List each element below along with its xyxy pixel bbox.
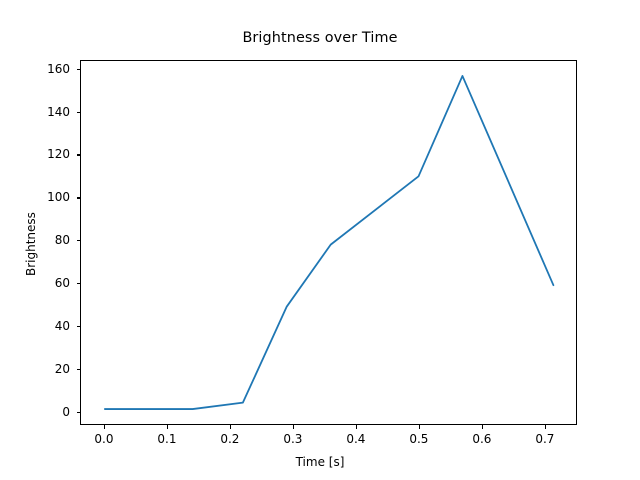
x-tick-mark bbox=[293, 425, 294, 429]
data-line-svg bbox=[81, 61, 576, 424]
y-tick-label: 160 bbox=[30, 62, 70, 76]
y-tick-label: 40 bbox=[30, 319, 70, 333]
y-tick-label: 100 bbox=[30, 190, 70, 204]
x-tick-label: 0.2 bbox=[220, 432, 239, 446]
y-tick-label: 60 bbox=[30, 276, 70, 290]
x-tick-label: 0.7 bbox=[535, 432, 554, 446]
x-tick-mark bbox=[356, 425, 357, 429]
x-axis-label: Time [s] bbox=[0, 455, 640, 469]
x-tick-mark bbox=[482, 425, 483, 429]
x-tick-mark bbox=[545, 425, 546, 429]
x-tick-label: 0.1 bbox=[157, 432, 176, 446]
x-tick-label: 0.3 bbox=[283, 432, 302, 446]
y-tick-label: 0 bbox=[30, 405, 70, 419]
x-tick-mark bbox=[167, 425, 168, 429]
x-tick-label: 0.6 bbox=[472, 432, 491, 446]
x-tick-label: 0.0 bbox=[94, 432, 113, 446]
matplotlib-figure: Brightness over Time Brightness Time [s]… bbox=[0, 0, 640, 480]
y-tick-label: 140 bbox=[30, 105, 70, 119]
x-tick-label: 0.5 bbox=[409, 432, 428, 446]
x-tick-mark bbox=[230, 425, 231, 429]
chart-title: Brightness over Time bbox=[0, 30, 640, 46]
x-tick-label: 0.4 bbox=[346, 432, 365, 446]
brightness-line bbox=[105, 76, 554, 409]
y-tick-label: 80 bbox=[30, 233, 70, 247]
x-tick-mark bbox=[419, 425, 420, 429]
y-tick-label: 20 bbox=[30, 362, 70, 376]
x-tick-mark bbox=[104, 425, 105, 429]
plot-area bbox=[80, 60, 577, 425]
y-tick-label: 120 bbox=[30, 147, 70, 161]
